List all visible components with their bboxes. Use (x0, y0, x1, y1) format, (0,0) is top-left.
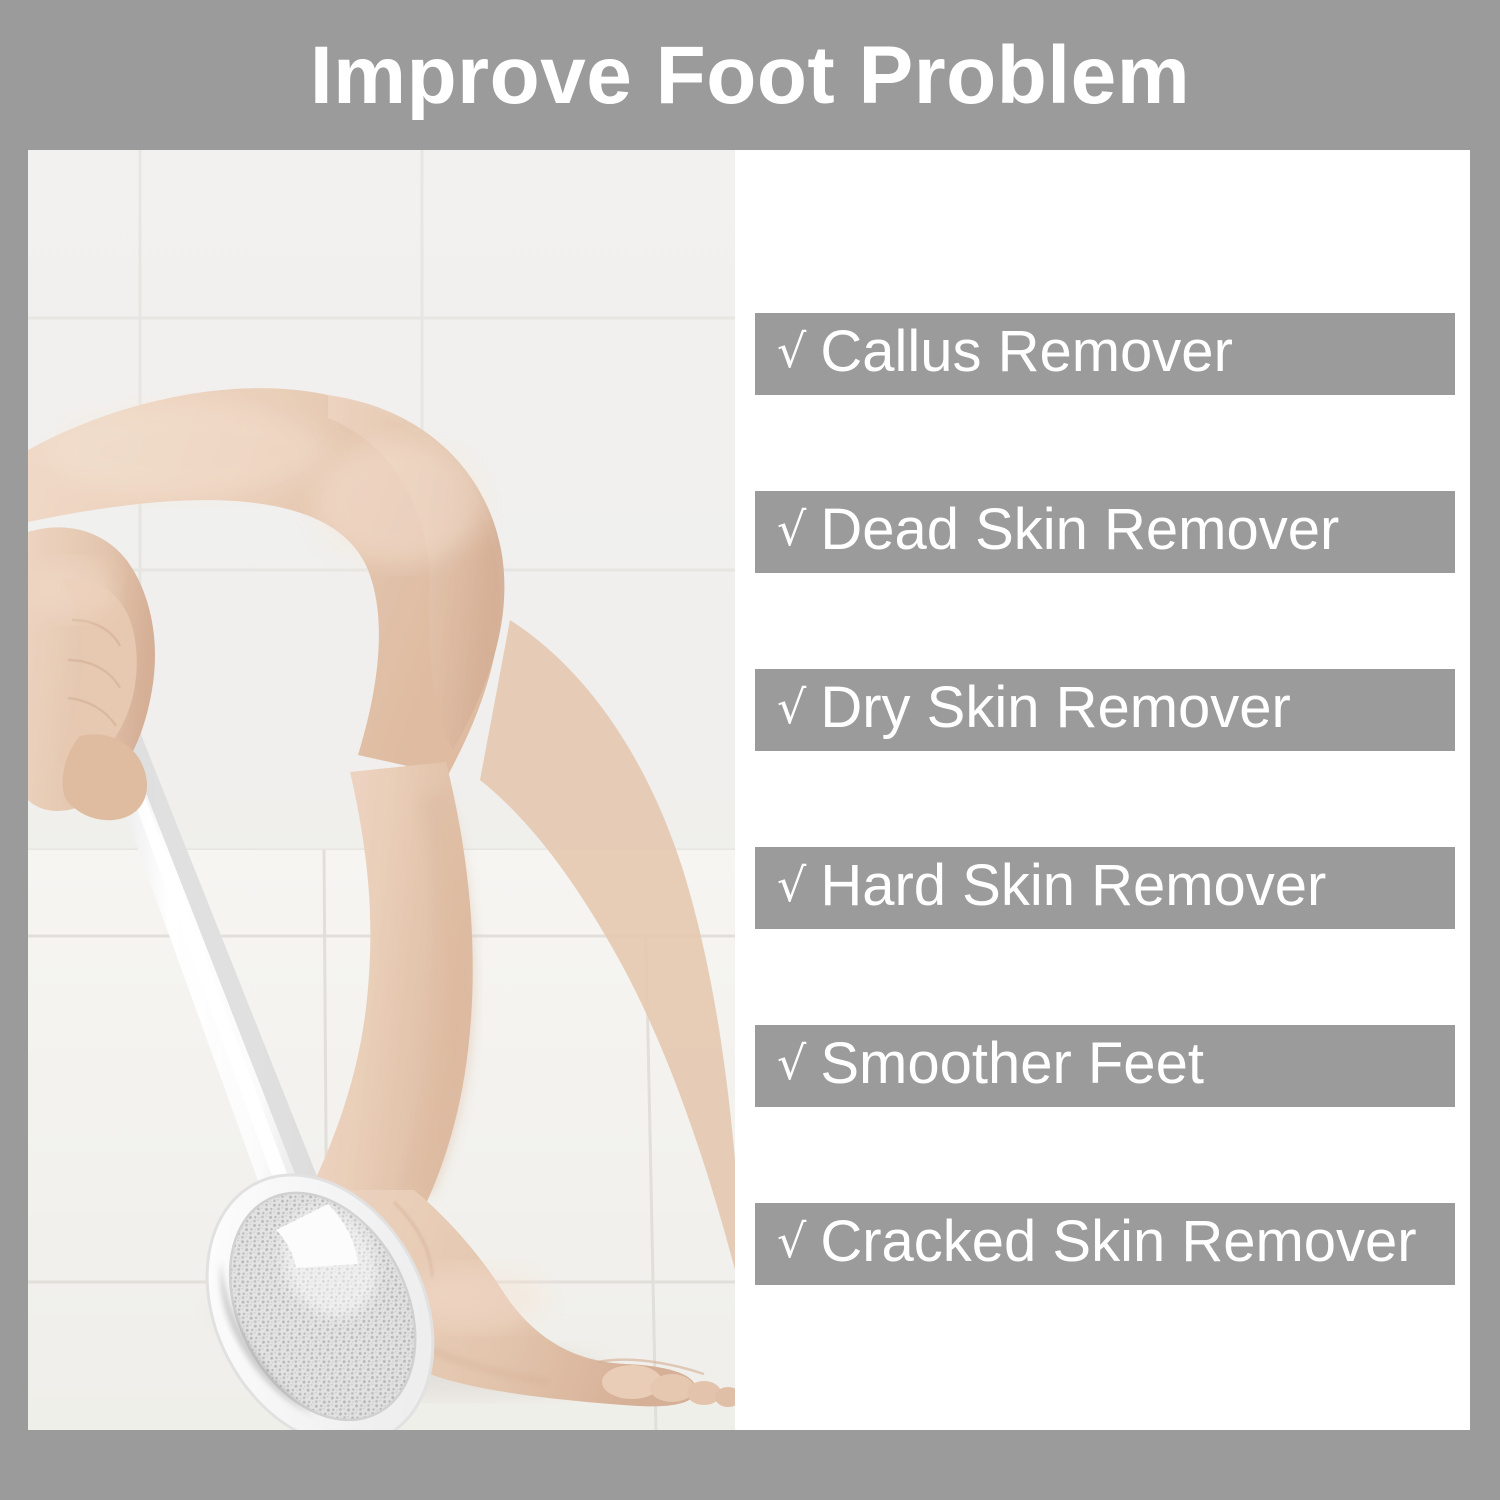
check-icon: √ (777, 328, 806, 374)
feature-list: √ Callus Remover √ Dead Skin Remover √ D… (755, 313, 1455, 1285)
check-icon: √ (777, 684, 806, 730)
feature-item-callus-remover[interactable]: √ Callus Remover (755, 313, 1455, 395)
product-usage-photo (28, 150, 735, 1430)
check-icon: √ (777, 1218, 806, 1264)
feature-item-cracked-skin-remover[interactable]: √ Cracked Skin Remover (755, 1203, 1455, 1285)
photo-light-wash (28, 150, 735, 1430)
feature-label: Dead Skin Remover (820, 501, 1339, 559)
feature-label: Hard Skin Remover (820, 857, 1326, 915)
feature-label: Cracked Skin Remover (820, 1213, 1416, 1271)
feature-item-hard-skin-remover[interactable]: √ Hard Skin Remover (755, 847, 1455, 929)
check-icon: √ (777, 506, 806, 552)
photo-illustration (28, 150, 735, 1430)
feature-item-dead-skin-remover[interactable]: √ Dead Skin Remover (755, 491, 1455, 573)
product-feature-poster: Improve Foot Problem (0, 0, 1500, 1500)
check-icon: √ (777, 1040, 806, 1086)
check-icon: √ (777, 862, 806, 908)
feature-label: Dry Skin Remover (820, 679, 1291, 737)
feature-label: Smoother Feet (820, 1035, 1204, 1093)
feature-item-dry-skin-remover[interactable]: √ Dry Skin Remover (755, 669, 1455, 751)
page-title: Improve Foot Problem (0, 30, 1500, 122)
feature-label: Callus Remover (820, 323, 1233, 381)
feature-item-smoother-feet[interactable]: √ Smoother Feet (755, 1025, 1455, 1107)
content-panel: √ Callus Remover √ Dead Skin Remover √ D… (28, 150, 1470, 1430)
